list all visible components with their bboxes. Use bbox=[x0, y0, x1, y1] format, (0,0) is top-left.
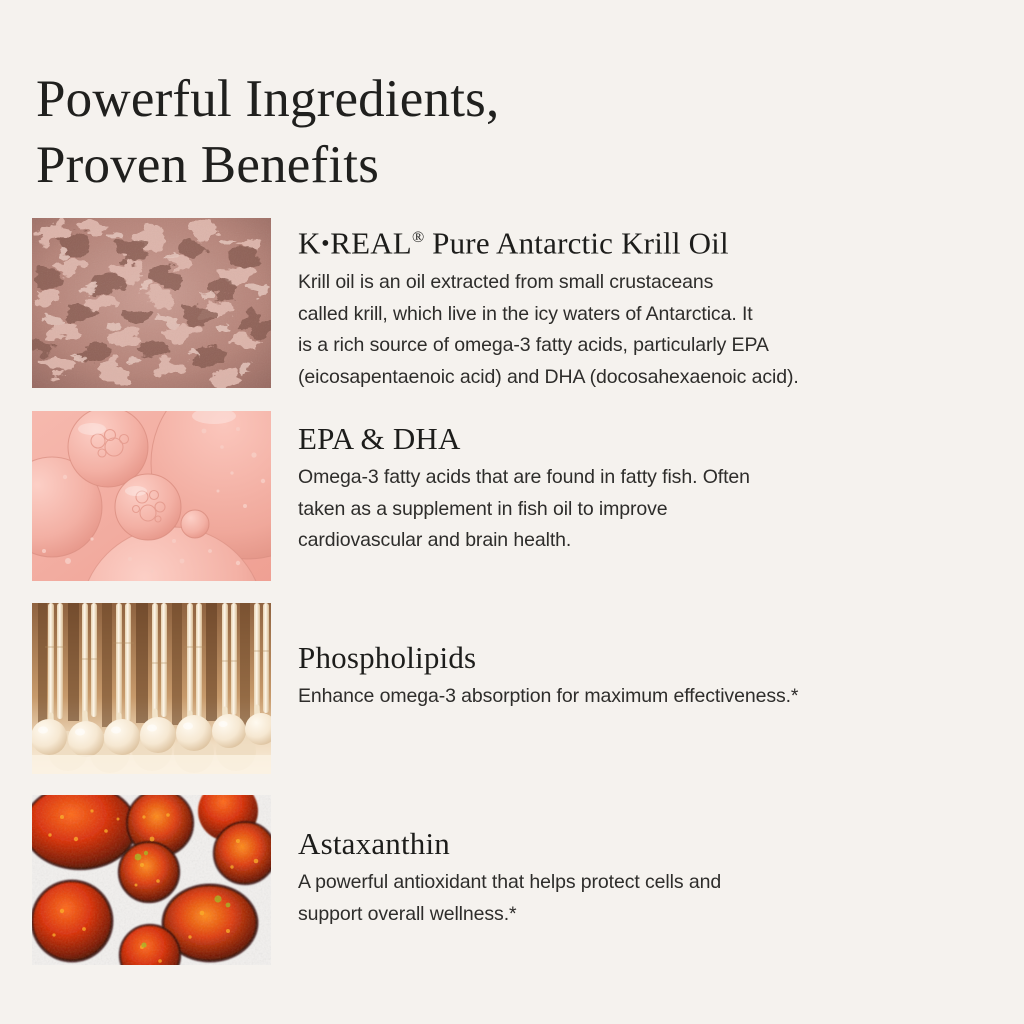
title-suffix: Pure Antarctic Krill Oil bbox=[424, 226, 729, 261]
krill-texture-photo bbox=[32, 218, 271, 388]
phospholipid-bilayer-render bbox=[32, 603, 271, 774]
registered-trademark-icon: ® bbox=[412, 229, 424, 246]
ingredient-copy-epa-dha: EPA & DHA Omega-3 fatty acids that are f… bbox=[298, 421, 1004, 557]
ingredient-body-epa-dha: Omega-3 fatty acids that are found in fa… bbox=[298, 462, 1004, 557]
ingredients-infographic: Powerful Ingredients, Proven Benefits bbox=[0, 0, 1024, 1024]
ingredient-title-epa-dha: EPA & DHA bbox=[298, 421, 1004, 457]
ingredient-body-astaxanthin: A powerful antioxidant that helps protec… bbox=[298, 867, 1004, 930]
ingredient-title-krill-oil: K•REAL® Pure Antarctic Krill Oil bbox=[298, 220, 1004, 262]
ingredient-copy-phospholipids: Phospholipids Enhance omega-3 absorption… bbox=[298, 640, 1004, 713]
page-title: Powerful Ingredients, Proven Benefits bbox=[36, 66, 756, 198]
pink-oil-bubbles-photo bbox=[32, 411, 271, 581]
brand-prefix: K bbox=[298, 226, 321, 261]
astaxanthin-algae-microscopy bbox=[32, 795, 271, 965]
brand-dot-icon: • bbox=[321, 230, 331, 257]
ingredient-body-phospholipids: Enhance omega-3 absorption for maximum e… bbox=[298, 681, 1004, 713]
ingredient-body-krill-oil: Krill oil is an oil extracted from small… bbox=[298, 267, 1004, 393]
ingredient-copy-krill-oil: K•REAL® Pure Antarctic Krill Oil Krill o… bbox=[298, 220, 1004, 393]
brand-name: REAL bbox=[330, 226, 412, 261]
ingredient-title-phospholipids: Phospholipids bbox=[298, 640, 1004, 676]
ingredient-title-astaxanthin: Astaxanthin bbox=[298, 826, 1004, 862]
ingredient-copy-astaxanthin: Astaxanthin A powerful antioxidant that … bbox=[298, 826, 1004, 930]
